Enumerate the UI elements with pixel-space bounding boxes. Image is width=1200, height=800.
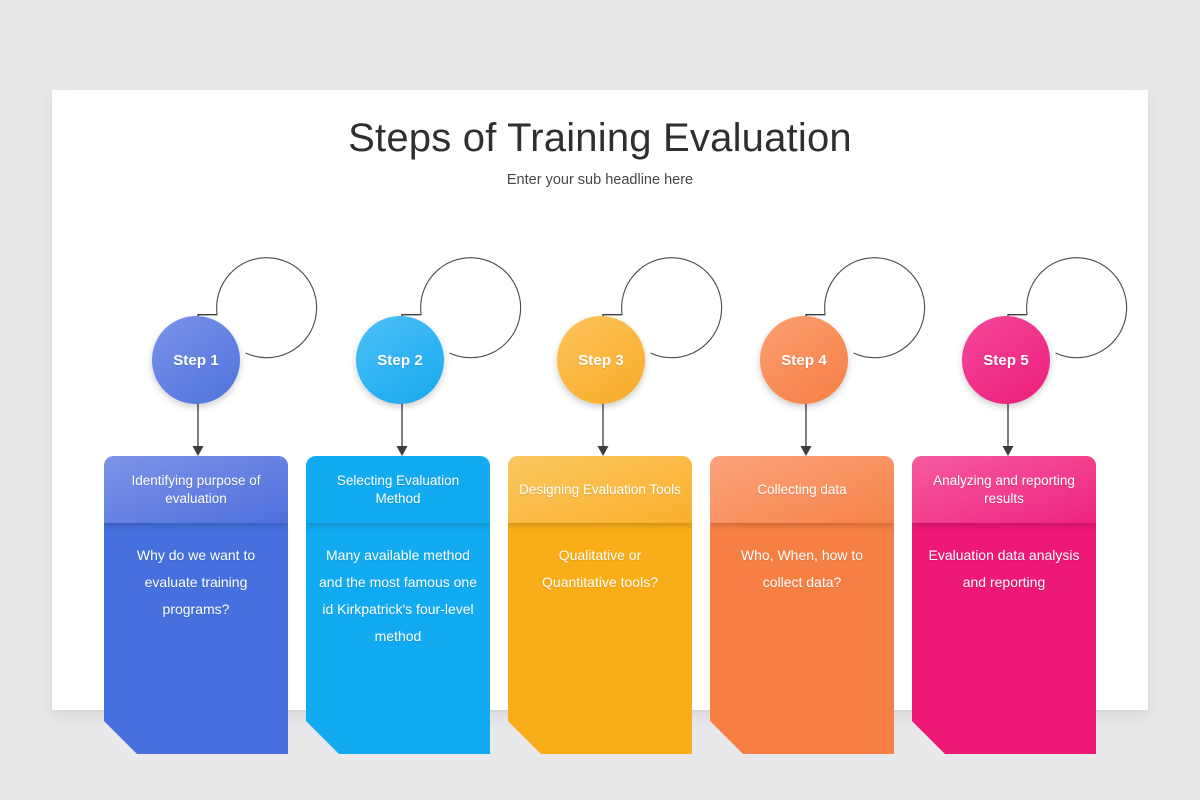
step-card-body-text-2: Many available method and the most famou… xyxy=(306,542,490,650)
step-node-3: Step 3 xyxy=(549,308,657,458)
step-card-heading-1: Identifying purpose of evaluation xyxy=(104,456,288,523)
step-card-heading-2: Selecting Evaluation Method xyxy=(306,456,490,523)
step-card-1[interactable]: Identifying purpose of evaluationWhy do … xyxy=(104,456,288,754)
step-circle-label-2: Step 2 xyxy=(377,352,423,369)
step-card-body-text-3: Qualitative or Quantitative tools? xyxy=(508,542,692,596)
step-connector-arrowhead-1 xyxy=(193,446,204,456)
step-card-shape-3: Designing Evaluation ToolsQualitative or… xyxy=(508,456,692,754)
step-node-1: Step 1 xyxy=(144,308,252,458)
step-card-4[interactable]: Collecting dataWho, When, how to collect… xyxy=(710,456,894,754)
step-node-2: Step 2 xyxy=(348,308,456,458)
step-card-body-text-5: Evaluation data analysis and reporting xyxy=(912,542,1096,596)
step-circle-4[interactable]: Step 4 xyxy=(760,316,848,404)
step-connector-arrowhead-2 xyxy=(397,446,408,456)
step-node-4: Step 4 xyxy=(752,308,860,458)
page-subtitle: Enter your sub headline here xyxy=(52,172,1148,188)
step-circle-5[interactable]: Step 5 xyxy=(962,316,1050,404)
step-connector-arrowhead-3 xyxy=(598,446,609,456)
step-card-2[interactable]: Selecting Evaluation MethodMany availabl… xyxy=(306,456,490,754)
step-connector-arrowhead-4 xyxy=(801,446,812,456)
step-circle-3[interactable]: Step 3 xyxy=(557,316,645,404)
step-card-shape-1: Identifying purpose of evaluationWhy do … xyxy=(104,456,288,754)
step-circle-2[interactable]: Step 2 xyxy=(356,316,444,404)
step-card-body-text-4: Who, When, how to collect data? xyxy=(710,542,894,596)
step-card-heading-4: Collecting data xyxy=(710,456,894,523)
step-card-body-text-1: Why do we want to evaluate training prog… xyxy=(104,542,288,623)
step-card-shape-4: Collecting dataWho, When, how to collect… xyxy=(710,456,894,754)
step-circle-label-5: Step 5 xyxy=(983,352,1029,369)
step-circle-label-4: Step 4 xyxy=(781,352,827,369)
step-connector-arrowhead-5 xyxy=(1003,446,1014,456)
step-card-heading-3: Designing Evaluation Tools xyxy=(508,456,692,523)
slide-panel: Steps of Training Evaluation Enter your … xyxy=(52,90,1148,710)
page-title: Steps of Training Evaluation xyxy=(52,116,1148,161)
step-circle-1[interactable]: Step 1 xyxy=(152,316,240,404)
step-circle-label-1: Step 1 xyxy=(173,352,219,369)
step-node-5: Step 5 xyxy=(954,308,1062,458)
step-card-5[interactable]: Analyzing and reporting resultsEvaluatio… xyxy=(912,456,1096,754)
step-card-shape-5: Analyzing and reporting resultsEvaluatio… xyxy=(912,456,1096,754)
step-circle-label-3: Step 3 xyxy=(578,352,624,369)
slide-canvas: Steps of Training Evaluation Enter your … xyxy=(0,0,1200,800)
step-card-shape-2: Selecting Evaluation MethodMany availabl… xyxy=(306,456,490,754)
step-card-3[interactable]: Designing Evaluation ToolsQualitative or… xyxy=(508,456,692,754)
step-card-heading-5: Analyzing and reporting results xyxy=(912,456,1096,523)
